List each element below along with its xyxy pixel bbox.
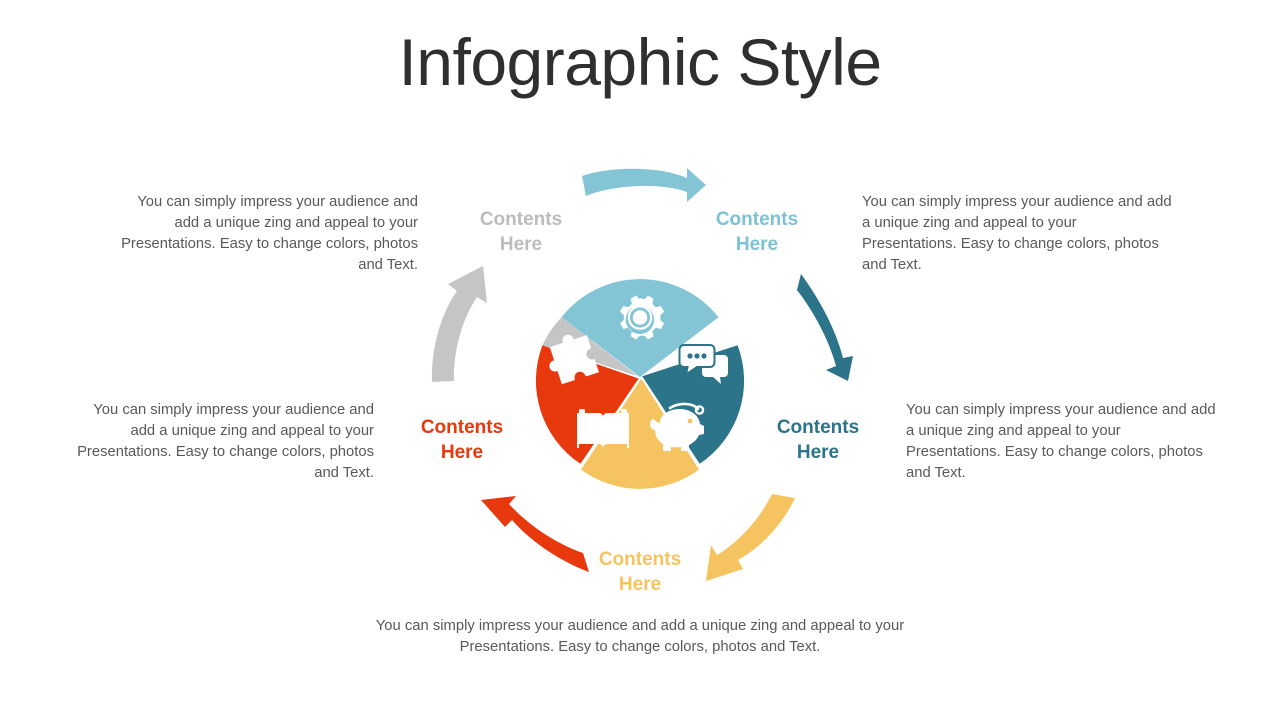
arrow-bottom-left[interactable]: [481, 496, 589, 572]
arrow-bottom-right[interactable]: [706, 494, 795, 581]
arrow-top[interactable]: [582, 168, 706, 202]
arrow-right[interactable]: [797, 274, 853, 381]
arrow-left[interactable]: [432, 266, 487, 382]
cycle-diagram: [0, 0, 1280, 720]
